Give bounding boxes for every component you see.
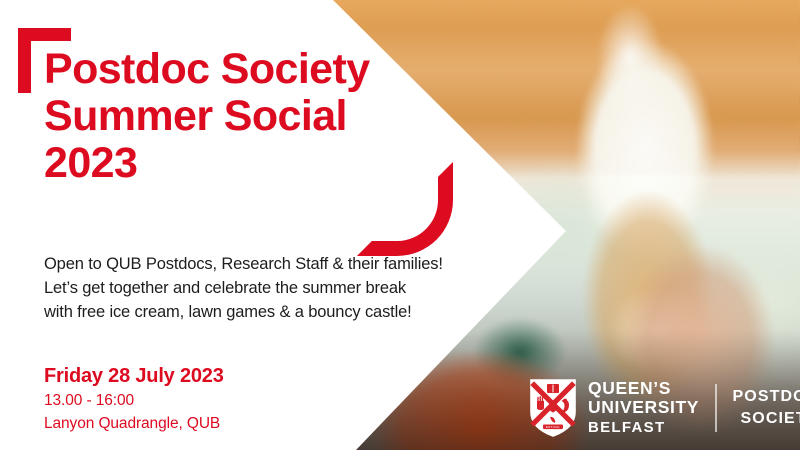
title-line-1: Postdoc Society — [44, 46, 374, 93]
society-line-1: POSTDOC — [733, 386, 800, 408]
event-details: Friday 28 July 2023 13.00 - 16:00 Lanyon… — [44, 364, 224, 435]
wordmark-line-2: UNIVERSITY — [588, 398, 699, 418]
society-line-2: SOCIETY — [733, 408, 800, 430]
society-wordmark: POSTDOC SOCIETY — [733, 386, 800, 430]
wordmark-line-3: BELFAST — [588, 418, 699, 438]
description-line-3: with free ice cream, lawn games & a boun… — [44, 300, 464, 324]
event-poster: Postdoc Society Summer Social 2023 Open … — [0, 0, 800, 450]
description-line-1: Open to QUB Postdocs, Research Staff & t… — [44, 252, 464, 276]
logo-lockup: ESTIVAL QUEEN’S UNIVERSITY BELFAST POSTD… — [530, 378, 800, 438]
logo-divider — [715, 384, 717, 432]
university-wordmark: QUEEN’S UNIVERSITY BELFAST — [588, 379, 699, 438]
event-location: Lanyon Quadrangle, QUB — [44, 412, 224, 435]
crest-motto-text: ESTIVAL — [546, 425, 561, 429]
description-line-2: Let’s get together and celebrate the sum… — [44, 276, 464, 300]
bracket-horizontal-bar — [18, 28, 71, 41]
queens-university-belfast-crest-icon: ESTIVAL — [530, 379, 576, 437]
title-line-3: 2023 — [44, 140, 374, 187]
event-description: Open to QUB Postdocs, Research Staff & t… — [44, 252, 464, 324]
wordmark-line-1: QUEEN’S — [588, 379, 699, 399]
event-date: Friday 28 July 2023 — [44, 364, 224, 389]
event-time: 13.00 - 16:00 — [44, 389, 224, 412]
title-line-2: Summer Social — [44, 93, 374, 140]
page-title: Postdoc Society Summer Social 2023 — [44, 46, 374, 187]
